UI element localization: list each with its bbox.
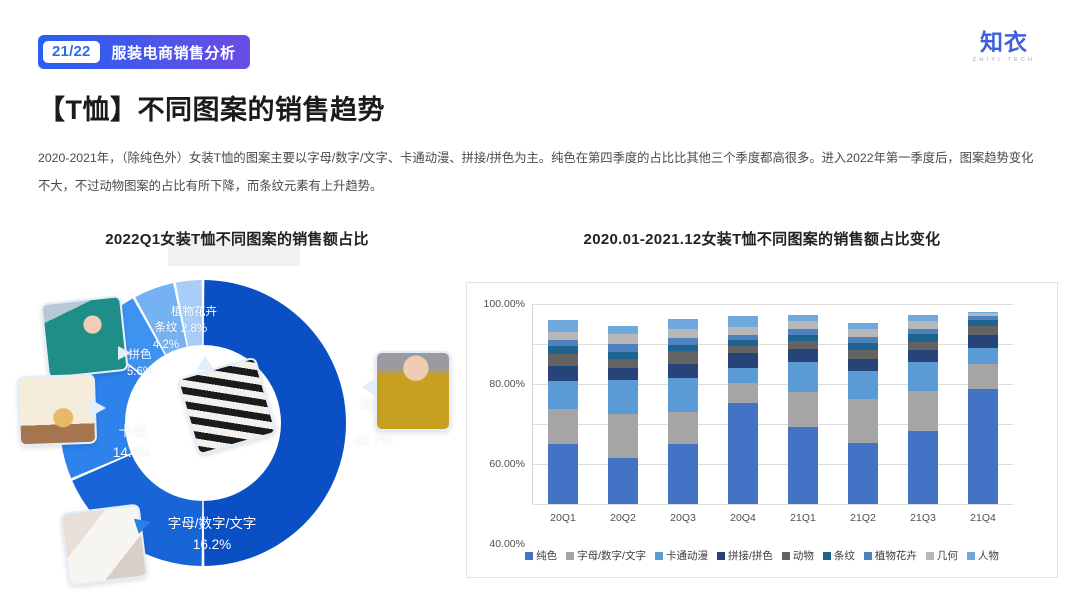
bar-segment[interactable] xyxy=(728,346,758,353)
bar-segment[interactable] xyxy=(728,353,758,368)
y-axis-tick: 60.00% xyxy=(489,458,525,470)
legend-label: 植物花卉 xyxy=(875,548,917,563)
bar-segment[interactable] xyxy=(848,350,878,359)
slide-root: 21/22 服装电商销售分析 知衣 ZHIYI TECH 【T恤】不同图案的销售… xyxy=(0,0,1080,603)
callout-tail-green xyxy=(118,346,131,360)
bar-segment[interactable] xyxy=(968,326,998,334)
legend-label: 卡通动漫 xyxy=(666,548,708,563)
legend-item-几何[interactable]: 几何 xyxy=(926,548,958,563)
gridline-80: 80.00% xyxy=(533,344,1013,345)
x-axis-tick: 21Q1 xyxy=(790,512,816,524)
legend-label: 动物 xyxy=(793,548,814,563)
photo-green-tee[interactable] xyxy=(40,295,129,379)
legend-swatch-icon xyxy=(525,552,533,560)
photo-yellow-top[interactable] xyxy=(375,351,451,431)
bar-segment[interactable] xyxy=(668,444,698,504)
legend-item-卡通动漫[interactable]: 卡通动漫 xyxy=(655,548,708,563)
bar-segment[interactable] xyxy=(608,380,638,414)
bar-group-20Q4[interactable]: 20Q4 xyxy=(728,316,758,504)
bar-segment[interactable] xyxy=(788,427,818,504)
bar-segment[interactable] xyxy=(908,391,938,431)
legend-swatch-icon xyxy=(967,552,975,560)
bar-group-20Q1[interactable]: 20Q1 xyxy=(548,320,578,504)
legend-swatch-icon xyxy=(566,552,574,560)
x-axis-tick: 20Q3 xyxy=(670,512,696,524)
bar-segment[interactable] xyxy=(908,342,938,351)
legend-label: 纯色 xyxy=(536,548,557,563)
bar-segment[interactable] xyxy=(728,403,758,504)
bar-segment[interactable] xyxy=(548,332,578,340)
bar-segment[interactable] xyxy=(548,366,578,380)
bar-segment[interactable] xyxy=(548,409,578,444)
bar-segment[interactable] xyxy=(668,345,698,352)
bar-segment[interactable] xyxy=(668,364,698,378)
callout-tail-stripe xyxy=(196,356,214,370)
legend-item-拼接/拼色[interactable]: 拼接/拼色 xyxy=(717,548,773,563)
bar-segment[interactable] xyxy=(548,444,578,504)
x-axis-tick: 21Q2 xyxy=(850,512,876,524)
bar-segment[interactable] xyxy=(788,392,818,427)
bar-segment[interactable] xyxy=(668,329,698,338)
bar-plot-area: 0.00%20.00%40.00%60.00%80.00%100.00% 20Q… xyxy=(533,304,1013,504)
bar-segment[interactable] xyxy=(608,368,638,380)
bar-segment[interactable] xyxy=(848,399,878,443)
bar-segment[interactable] xyxy=(908,350,938,362)
legend-label: 拼接/拼色 xyxy=(728,548,773,563)
bar-segment[interactable] xyxy=(788,349,818,362)
legend-label: 几何 xyxy=(937,548,958,563)
bar-group-20Q2[interactable]: 20Q2 xyxy=(608,326,638,504)
legend-swatch-icon xyxy=(823,552,831,560)
gridline-0: 0.00% xyxy=(533,504,1013,505)
legend-label: 字母/数字/文字 xyxy=(577,548,646,563)
bar-segment[interactable] xyxy=(668,351,698,364)
bar-chart-legend: 纯色字母/数字/文字卡通动漫拼接/拼色动物条纹植物花卉几何人物 xyxy=(467,548,1057,563)
bar-segment[interactable] xyxy=(788,341,818,349)
x-axis-tick: 20Q2 xyxy=(610,512,636,524)
badge-number: 21/22 xyxy=(43,41,100,63)
bar-segment[interactable] xyxy=(848,443,878,504)
x-axis-tick: 20Q4 xyxy=(730,512,756,524)
logo-wordmark: 知衣 xyxy=(956,30,1052,55)
legend-label: 条纹 xyxy=(834,548,855,563)
bar-segment[interactable] xyxy=(608,359,638,368)
bar-segment[interactable] xyxy=(908,321,938,328)
bar-segment[interactable] xyxy=(548,320,578,331)
bar-group-21Q1[interactable]: 21Q1 xyxy=(788,315,818,504)
bar-segment[interactable] xyxy=(848,343,878,350)
logo-subtitle: ZHIYI TECH xyxy=(956,57,1052,63)
x-axis-tick: 20Q1 xyxy=(550,512,576,524)
photo-cream-tee[interactable] xyxy=(17,374,97,447)
legend-item-动物[interactable]: 动物 xyxy=(782,548,814,563)
y-axis-tick: 100.00% xyxy=(484,298,525,310)
bar-segment[interactable] xyxy=(848,371,878,399)
bar-segment[interactable] xyxy=(728,383,758,403)
bar-segment[interactable] xyxy=(968,320,998,327)
gridline-40: 40.00% xyxy=(533,424,1013,425)
donut-chart-title: 2022Q1女装T恤不同图案的销售额占比 xyxy=(22,228,452,249)
bar-segment[interactable] xyxy=(668,319,698,330)
y-axis-tick: 80.00% xyxy=(489,378,525,390)
legend-item-人物[interactable]: 人物 xyxy=(967,548,999,563)
gridline-20: 20.00% xyxy=(533,464,1013,465)
legend-swatch-icon xyxy=(655,552,663,560)
bar-segment[interactable] xyxy=(848,359,878,371)
bar-group-20Q3[interactable]: 20Q3 xyxy=(668,319,698,504)
legend-item-字母/数字/文字[interactable]: 字母/数字/文字 xyxy=(566,548,646,563)
bar-segment[interactable] xyxy=(668,412,698,444)
bar-segment[interactable] xyxy=(608,344,638,352)
legend-label: 人物 xyxy=(978,548,999,563)
badge-label: 服装电商销售分析 xyxy=(112,42,236,63)
bar-segment[interactable] xyxy=(548,346,578,354)
legend-swatch-icon xyxy=(864,552,872,560)
x-axis-tick: 21Q3 xyxy=(910,512,936,524)
bar-segment[interactable] xyxy=(968,335,998,348)
bar-segment[interactable] xyxy=(728,316,758,326)
bar-group-21Q4[interactable]: 21Q4 xyxy=(968,312,998,504)
bar-chart-title: 2020.01-2021.12女装T恤不同图案的销售额占比变化 xyxy=(466,228,1058,249)
callout-tail-yellow xyxy=(362,378,375,396)
x-axis-tick: 21Q4 xyxy=(970,512,996,524)
bar-segment[interactable] xyxy=(608,326,638,334)
bar-segment[interactable] xyxy=(728,327,758,335)
bar-segment[interactable] xyxy=(608,352,638,359)
bar-segment[interactable] xyxy=(728,368,758,383)
bar-chart: 0.00%20.00%40.00%60.00%80.00%100.00% 20Q… xyxy=(466,282,1058,578)
bar-segment[interactable] xyxy=(908,431,938,504)
bar-segment[interactable] xyxy=(908,362,938,391)
bar-segment[interactable] xyxy=(788,362,818,392)
bar-segment[interactable] xyxy=(788,321,818,329)
legend-swatch-icon xyxy=(782,552,790,560)
bar-segment[interactable] xyxy=(668,378,698,412)
bar-segment[interactable] xyxy=(968,389,998,504)
gridline-60: 60.00% xyxy=(533,384,1013,385)
bar-segment[interactable] xyxy=(548,354,578,366)
bar-segment[interactable] xyxy=(908,334,938,341)
legend-item-纯色[interactable]: 纯色 xyxy=(525,548,557,563)
bar-segment[interactable] xyxy=(968,348,998,364)
legend-swatch-icon xyxy=(926,552,934,560)
legend-item-条纹[interactable]: 条纹 xyxy=(823,548,855,563)
bar-segment[interactable] xyxy=(968,364,998,389)
bar-segment[interactable] xyxy=(608,334,638,344)
callout-tail-cream xyxy=(90,399,106,417)
brand-logo: 知衣 ZHIYI TECH xyxy=(956,30,1052,63)
summary-paragraph: 2020-2021年，（除纯色外）女装T恤的图案主要以字母/数字/文字、卡通动漫… xyxy=(38,144,1044,200)
photo-white-tee[interactable] xyxy=(60,503,148,586)
bar-segment[interactable] xyxy=(608,414,638,458)
page-title: 【T恤】不同图案的销售趋势 xyxy=(38,88,385,127)
legend-item-植物花卉[interactable]: 植物花卉 xyxy=(864,548,917,563)
bar-segment[interactable] xyxy=(848,329,878,337)
bar-segment[interactable] xyxy=(548,381,578,409)
bar-segment[interactable] xyxy=(788,335,818,342)
bar-segment[interactable] xyxy=(668,338,698,345)
section-badge: 21/22 服装电商销售分析 xyxy=(38,35,250,69)
gridline-100: 100.00% xyxy=(533,304,1013,305)
bar-group-21Q3[interactable]: 21Q3 xyxy=(908,315,938,504)
bar-group-21Q2[interactable]: 21Q2 xyxy=(848,323,878,504)
bar-segment[interactable] xyxy=(608,458,638,504)
y-axis-line xyxy=(532,304,533,504)
legend-swatch-icon xyxy=(717,552,725,560)
